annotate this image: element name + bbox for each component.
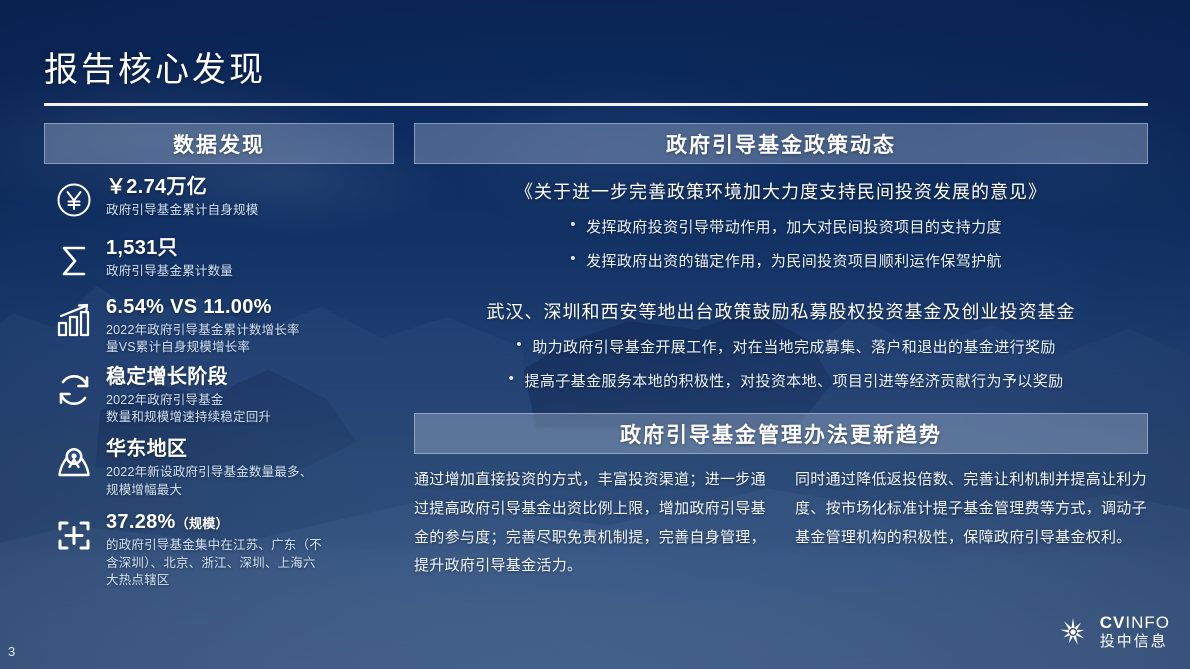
section-header-label: 数据发现 — [173, 129, 265, 159]
stat-sub: 的政府引导基金集中在江苏、广东（不含深圳）、北京、浙江、深圳、上海六大热点辖区 — [106, 537, 400, 590]
policy-dynamics-block: 《关于进一步完善政策环境加大力度支持民间投资发展的意见》 • 发挥政府投资引导带… — [414, 178, 1148, 284]
section-header-policy-trends: 政府引导基金政策动态 — [414, 123, 1148, 164]
bullet-list: • 助力政府引导基金开展工作，对在当地完成募集、落户和退出的基金进行奖励 • 提… — [414, 336, 1148, 391]
logo-line1: CVINFO — [1100, 613, 1170, 632]
local-policy-block: 武汉、深圳和西安等地出台政策鼓励私募股权投资基金及创业投资基金 • 助力政府引导… — [414, 298, 1148, 404]
location-pin-icon — [44, 438, 104, 483]
bullet-marker: • — [560, 250, 586, 268]
stat-sub: 政府引导基金累计数量 — [106, 263, 400, 281]
stat-value: ￥2.74万亿 — [106, 176, 400, 200]
document-title: 武汉、深圳和西安等地出台政策鼓励私募股权投资基金及创业投资基金 — [414, 298, 1148, 324]
bullet-item: • 提高子基金服务本地的积极性，对投资本地、项目引进等经济贡献行为予以奖励 — [414, 370, 1148, 391]
title-divider — [44, 103, 1148, 106]
section-header-label: 政府引导基金政策动态 — [666, 129, 896, 159]
section-header-data-findings: 数据发现 — [44, 123, 394, 164]
stat-value: 华东地区 — [106, 438, 400, 462]
yen-circle-icon — [44, 176, 104, 221]
bullet-item: • 发挥政府出资的锚定作用，为民间投资项目顺利运作保驾护航 — [414, 250, 1148, 271]
section-header-label: 政府引导基金管理办法更新趋势 — [620, 419, 942, 449]
bullet-list: • 发挥政府投资引导带动作用，加大对民间投资项目的支持力度 • 发挥政府出资的锚… — [414, 216, 1148, 271]
stats-list: ￥2.74万亿 政府引导基金累计自身规模 1,531只 政府引导基金累计数量 — [44, 176, 400, 601]
stat-value-number: 37.28% — [106, 511, 176, 533]
refresh-cycle-icon — [44, 366, 104, 411]
stat-item: 1,531只 政府引导基金累计数量 — [44, 237, 400, 282]
stat-sub: 2022年政府引导基金数量和规模增速持续稳定回升 — [106, 392, 400, 428]
stat-item: 37.28%（规模） 的政府引导基金集中在江苏、广东（不含深圳）、北京、浙江、深… — [44, 511, 400, 590]
bullet-text: 发挥政府出资的锚定作用，为民间投资项目顺利运作保驾护航 — [586, 250, 1002, 271]
stat-sub: 政府引导基金累计自身规模 — [106, 202, 400, 220]
page-title: 报告核心发现 — [44, 42, 266, 91]
section-header-management-trends: 政府引导基金管理办法更新趋势 — [414, 413, 1148, 454]
stat-value-suffix: （规模） — [176, 516, 229, 531]
stat-value: 37.28%（规模） — [106, 511, 400, 535]
logo-line2: 投中信息 — [1100, 633, 1168, 650]
bullet-item: • 发挥政府投资引导带动作用，加大对民间投资项目的支持力度 — [414, 216, 1148, 237]
column-left-text: 通过增加直接投资的方式，丰富投资渠道；进一步通过提高政府引导基金出资比例上限，增… — [414, 466, 767, 581]
sigma-icon — [44, 237, 104, 282]
bullet-text: 助力政府引导基金开展工作，对在当地完成募集、落户和退出的基金进行奖励 — [532, 336, 1056, 357]
slide: 报告核心发现 数据发现 政府引导基金政策动态 政府引导基金管理办法更新趋势 — [0, 0, 1190, 669]
bar-chart-growth-icon — [44, 296, 104, 341]
stat-item: 华东地区 2022年新设政府引导基金数量最多、规模增幅最大 — [44, 438, 400, 499]
bullet-marker: • — [506, 336, 532, 354]
bullet-item: • 助力政府引导基金开展工作，对在当地完成募集、落户和退出的基金进行奖励 — [414, 336, 1148, 357]
focus-plus-icon — [44, 511, 104, 556]
stat-sub: 2022年新设政府引导基金数量最多、规模增幅最大 — [106, 464, 400, 500]
stat-value: 1,531只 — [106, 237, 400, 261]
stat-value: 6.54% VS 11.00% — [106, 296, 400, 320]
bullet-marker: • — [498, 370, 524, 388]
management-trends-columns: 通过增加直接投资的方式，丰富投资渠道；进一步通过提高政府引导基金出资比例上限，增… — [414, 466, 1148, 581]
bullet-marker: • — [560, 216, 586, 234]
stat-sub: 2022年政府引导基金累计数增长率量VS累计自身规模增长率 — [106, 322, 400, 358]
page-number: 3 — [8, 644, 15, 659]
stat-item: 6.54% VS 11.00% 2022年政府引导基金累计数增长率量VS累计自身… — [44, 296, 400, 357]
stat-item: 稳定增长阶段 2022年政府引导基金数量和规模增速持续稳定回升 — [44, 366, 400, 427]
stat-value: 稳定增长阶段 — [106, 366, 400, 390]
stat-item: ￥2.74万亿 政府引导基金累计自身规模 — [44, 176, 400, 221]
burst-mark-icon — [1056, 615, 1090, 649]
column-right-text: 同时通过降低返投倍数、完善让利机制并提高让利力度、按市场化标准计提子基金管理费等… — [795, 466, 1148, 581]
bullet-text: 提高子基金服务本地的积极性，对投资本地、项目引进等经济贡献行为予以奖励 — [524, 370, 1063, 391]
cvinfo-logo: CVINFO 投中信息 — [1056, 613, 1170, 651]
document-title: 《关于进一步完善政策环境加大力度支持民间投资发展的意见》 — [414, 178, 1148, 204]
bullet-text: 发挥政府投资引导带动作用，加大对民间投资项目的支持力度 — [586, 216, 1002, 237]
